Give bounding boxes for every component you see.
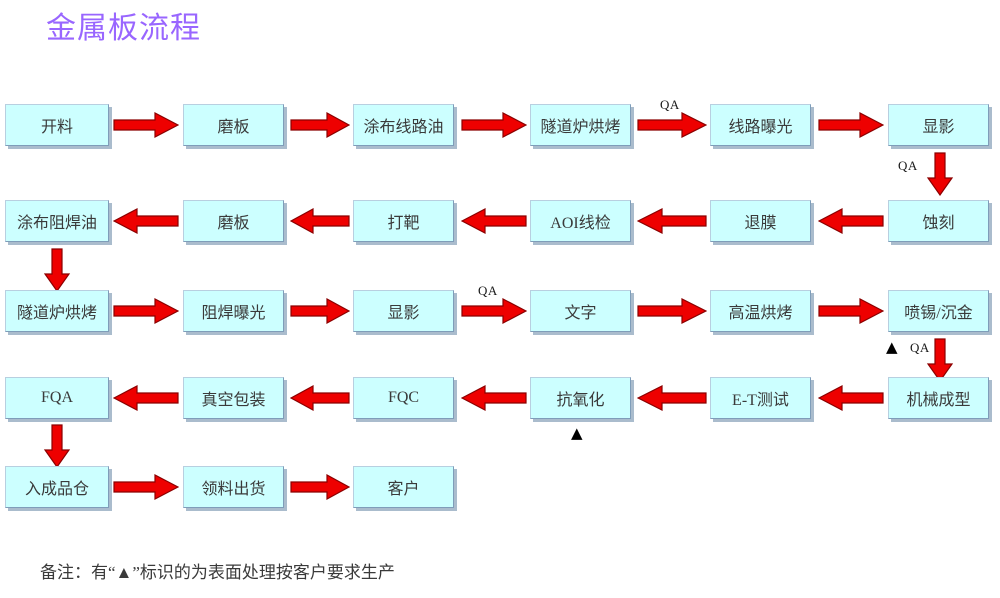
arrow-left-jixie-to-et [818,385,884,411]
node-label: 线路曝光 [728,113,792,137]
arrow-right-xianying-to-wenzi-qa [461,298,527,324]
node-lingliao-chuhuo[interactable]: 领料出货 [183,466,284,508]
arrow-right-ruchengpincang-to-lingliao [113,474,179,500]
arrow-down-tubu-zuhanyou-to-suidaolu [43,248,71,292]
arrow-right-tubu-to-suidaolu [461,112,527,138]
arrow-left-aoi-to-daba [461,208,527,234]
arrow-right-lingliao-to-kehu [290,474,350,500]
node-label: FQC [388,389,419,407]
node-tuimo[interactable]: 退膜 [710,200,811,242]
node-label: 文字 [564,299,596,323]
node-kehu[interactable]: 客户 [353,466,454,508]
node-label: 磨板 [217,209,249,233]
node-moban-1[interactable]: 磨板 [183,104,284,146]
node-jixie-chengxing[interactable]: 机械成型 [888,377,989,419]
node-suidaolu-honghao-1[interactable]: 隧道炉烘烤 [530,104,631,146]
node-fqc[interactable]: FQC [353,377,454,419]
arrow-down-penxi-to-jixie [926,338,954,382]
arrow-right-suidaolu-to-zuhan [113,298,179,324]
node-label: 涂布阻焊油 [17,209,97,233]
arrow-right-kailiao-to-moban [113,112,179,138]
node-label: 入成品仓 [25,475,89,499]
node-suidaolu-honghao-2[interactable]: 隧道炉烘烤 [5,290,109,332]
marker-triangle-kangyanghua: ▲ [571,426,583,441]
node-kangyanghua[interactable]: 抗氧化 [530,377,631,419]
node-et-ceshi[interactable]: E-T测试 [710,377,811,419]
arrow-right-moban-to-tubu [290,112,350,138]
flowchart-canvas: 金属板流程 开料 磨板 涂布线路油 隧道炉烘烤 线路曝光 显影 QA QA 涂布… [0,0,1000,598]
footnote-text: 备注：有“▲”标识的为表面处理按客户要求生产 [40,558,395,583]
node-label: 真空包装 [201,386,265,410]
arrow-right-suidaolu-to-xianlu-qa [637,112,707,138]
arrow-left-kangyanghua-to-fqc [461,385,527,411]
arrow-right-gaowen-to-penxi [818,298,884,324]
arrow-left-fqc-to-zhenkong [290,385,350,411]
node-daba[interactable]: 打靶 [353,200,454,242]
node-tubu-xianluyou[interactable]: 涂布线路油 [353,104,454,146]
node-penxi-chenjin[interactable]: 喷锡/沉金 [888,290,989,332]
node-tubu-zuhanyou[interactable]: 涂布阻焊油 [5,200,109,242]
node-label: 领料出货 [201,475,265,499]
arrow-right-zuhan-to-xianying [290,298,350,324]
node-label: 隧道炉烘烤 [540,113,620,137]
node-label: 涂布线路油 [363,113,443,137]
arrow-left-daba-to-moban [290,208,350,234]
node-kailiao[interactable]: 开料 [5,104,109,146]
node-label: 阻焊曝光 [201,299,265,323]
qa-label-row1-exposure: QA [660,97,680,113]
node-label: 打靶 [387,209,419,233]
arrow-left-zhenkong-to-fqa [113,385,179,411]
node-gaowen-honghao[interactable]: 高温烘烤 [710,290,811,332]
node-label: 退膜 [744,209,776,233]
node-label: 蚀刻 [922,209,954,233]
node-label: 隧道炉烘烤 [17,299,97,323]
node-moban-2[interactable]: 磨板 [183,200,284,242]
qa-label-row3-text: QA [478,283,498,299]
node-wenzi[interactable]: 文字 [530,290,631,332]
arrow-left-et-to-kangyanghua [637,385,707,411]
node-xianying-2[interactable]: 显影 [353,290,454,332]
node-aoi-xianjian[interactable]: AOI线检 [530,200,631,242]
qa-label-row1-to-row2: QA [898,158,918,174]
node-xianying-1[interactable]: 显影 [888,104,989,146]
node-label: AOI线检 [550,209,610,233]
arrow-down-xianying-to-shike [926,152,954,196]
node-label: 客户 [387,475,419,499]
marker-triangle-penxi-chenjin: ▲ [886,340,898,355]
node-label: 显影 [387,299,419,323]
arrow-down-fqa-to-ru-chengpincang [43,424,71,468]
arrow-left-moban-to-tubu-zuhanyou [113,208,179,234]
node-label: E-T测试 [732,386,789,410]
node-label: 开料 [41,113,73,137]
node-label: 喷锡/沉金 [904,299,972,323]
node-zuhan-baoguang[interactable]: 阻焊曝光 [183,290,284,332]
node-xianlu-baoguang[interactable]: 线路曝光 [710,104,811,146]
node-label: FQA [41,389,73,407]
node-label: 显影 [922,113,954,137]
arrow-left-shike-to-tuimo [818,208,884,234]
node-shike[interactable]: 蚀刻 [888,200,989,242]
node-label: 高温烘烤 [728,299,792,323]
node-zhenkong-baozhuang[interactable]: 真空包装 [183,377,284,419]
node-label: 抗氧化 [556,386,604,410]
node-fqa[interactable]: FQA [5,377,109,419]
arrow-right-xianlu-to-xianying [818,112,884,138]
arrow-left-tuimo-to-aoi [637,208,707,234]
arrow-right-wenzi-to-gaowen [637,298,707,324]
node-label: 磨板 [217,113,249,137]
page-title: 金属板流程 [46,10,201,48]
node-label: 机械成型 [906,386,970,410]
node-ru-chengpincang[interactable]: 入成品仓 [5,466,109,508]
